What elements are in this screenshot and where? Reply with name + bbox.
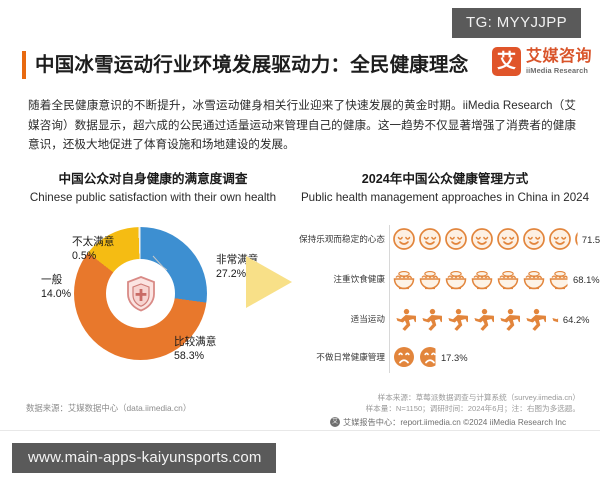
- picto-value-2: 64.2%: [563, 314, 590, 325]
- pie-title-en: Chinese public satisfaction with their o…: [18, 191, 288, 204]
- pictogram-row: 不做日常健康管理 17.3%: [300, 341, 590, 373]
- pie-label-unsatisfied: 不太满意 0.5%: [72, 235, 114, 263]
- shield-health-icon: [125, 275, 157, 312]
- pictogram-row: 适当运动 64.2%: [300, 303, 590, 335]
- picto-label-3: 不做日常健康管理: [235, 351, 385, 363]
- pie-label-fairly-satisfied: 比较满意 58.3%: [174, 335, 216, 363]
- picto-title-en: Public health management approaches in C…: [300, 191, 590, 204]
- report-badge-icon: 艾: [330, 417, 340, 427]
- pictogram-row: 注重饮食健康 68.1%: [300, 263, 590, 295]
- infographic-page: TG: MYYJJPP 中国冰雪运动行业环境发展驱动力：全民健康理念 艾 艾媒咨…: [0, 0, 600, 480]
- brand-logo: 艾 艾媒咨询 iiMedia Research: [492, 47, 592, 76]
- report-center-text: 艾媒报告中心：report.iimedia.cn ©2024 iiMedia R…: [343, 416, 566, 428]
- picto-label-0: 保持乐观而稳定的心态: [235, 233, 385, 245]
- logo-text: 艾媒咨询 iiMedia Research: [526, 49, 592, 75]
- page-header: 中国冰雪运动行业环境发展驱动力：全民健康理念 艾 艾媒咨询 iiMedia Re…: [0, 48, 600, 90]
- pictogram-rows: 保持乐观而稳定的心态 71.5% 注重饮食健康 68.1% 适当运动 64.2%…: [300, 223, 590, 375]
- picto-icons-0: [392, 223, 600, 255]
- logo-mark-icon: 艾: [492, 47, 521, 76]
- pie-label-average-name: 一般: [41, 273, 71, 287]
- report-center-line: 艾 艾媒报告中心：report.iimedia.cn ©2024 iiMedia…: [330, 416, 585, 428]
- footer-divider: [0, 430, 600, 431]
- picto-label-1: 注重饮食健康: [235, 273, 385, 285]
- picto-value-1: 68.1%: [573, 274, 600, 285]
- source-left: 数据来源：艾媒数据中心（data.iimedia.cn）: [26, 402, 191, 414]
- picto-title-cn: 2024年中国公众健康管理方式: [300, 168, 590, 187]
- page-title: 中国冰雪运动行业环境发展驱动力：全民健康理念: [35, 48, 468, 77]
- pie-label-fairly-satisfied-value: 58.3%: [174, 349, 216, 363]
- picto-icons-3: [392, 341, 444, 373]
- sample-source: 样本来源：草莓派数据调查与计算系统（survey.iimedia.cn）: [330, 393, 580, 404]
- charts-area: 中国公众对自身健康的满意度调查 Chinese public satisfact…: [0, 168, 600, 383]
- pie-label-average-value: 14.0%: [41, 287, 71, 301]
- pie-label-unsatisfied-name: 不太满意: [72, 235, 114, 249]
- title-accent-bar: [22, 51, 26, 79]
- bottom-watermark: www.main-apps-kaiyunsports.com: [12, 443, 276, 473]
- logo-name-cn: 艾媒咨询: [526, 49, 592, 65]
- picto-label-2: 适当运动: [235, 313, 385, 325]
- source-right: 样本来源：草莓派数据调查与计算系统（survey.iimedia.cn） 样本量…: [330, 393, 580, 414]
- pie-label-fairly-satisfied-name: 比较满意: [174, 335, 216, 349]
- intro-paragraph: 随着全民健康意识的不断提升，冰雪运动健身相关行业迎来了快速发展的黄金时期。iiM…: [28, 96, 576, 155]
- pie-label-unsatisfied-value: 0.5%: [72, 249, 114, 263]
- pictogram-row: 保持乐观而稳定的心态 71.5%: [300, 223, 590, 255]
- pie-leader-line: [152, 255, 170, 271]
- picto-value-3: 17.3%: [441, 352, 468, 363]
- pie-title-cn: 中国公众对自身健康的满意度调查: [18, 168, 288, 187]
- sample-note: 样本量：N=1150；调研时间：2024年6月；注：右图为多选题。: [330, 404, 580, 415]
- picto-icons-1: [392, 263, 574, 295]
- pictogram-chart-panel: 2024年中国公众健康管理方式 Public health management…: [300, 168, 590, 204]
- pie-chart-panel: 中国公众对自身健康的满意度调查 Chinese public satisfact…: [18, 168, 288, 204]
- logo-name-en: iiMedia Research: [526, 67, 592, 74]
- picto-icons-2: [392, 303, 574, 335]
- picto-value-0: 71.5%: [582, 234, 600, 245]
- top-watermark: TG: MYYJJPP: [452, 8, 581, 38]
- pie-label-average: 一般 14.0%: [41, 273, 71, 301]
